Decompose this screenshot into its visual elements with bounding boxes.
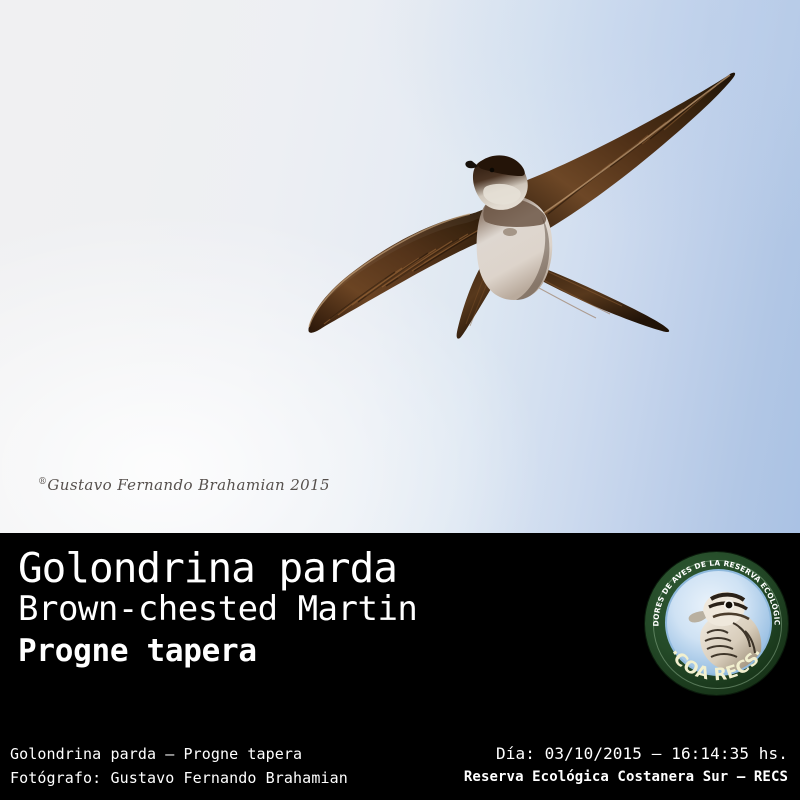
common-name-spanish: Golondrina parda <box>18 545 397 591</box>
footer-datetime-line: Día: 03/10/2015 – 16:14:35 hs. <box>496 744 788 763</box>
common-name-english: Brown-chested Martin <box>18 589 417 629</box>
watermark-text: Gustavo Fernando Brahamian 2015 <box>47 476 330 494</box>
photo-card: ®Gustavo Fernando Brahamian 2015 Golondr… <box>0 0 800 800</box>
badge-bottom-textpath: ·COA RECS· <box>664 645 768 686</box>
badge-bottom-text-ring: ·COA RECS· <box>645 552 788 695</box>
photograph: ®Gustavo Fernando Brahamian 2015 <box>0 0 800 533</box>
registered-mark-icon: ® <box>38 477 47 487</box>
bird-svg <box>0 0 800 533</box>
footer-species-line: Golondrina parda – Progne tapera <box>10 745 302 763</box>
scientific-name: Progne tapera <box>18 632 257 670</box>
footer-location-line: Reserva Ecológica Costanera Sur – RECS <box>464 769 788 785</box>
beak <box>465 161 478 168</box>
bird-illustration <box>0 0 800 533</box>
badge-bottom-label: ·COA RECS· <box>664 645 768 686</box>
footer-photographer-line: Fotógrafo: Gustavo Fernando Brahamian <box>10 769 348 787</box>
eye <box>490 168 495 173</box>
photo-watermark: ®Gustavo Fernando Brahamian 2015 <box>38 476 330 494</box>
coa-recs-logo: CLUB DE OBSERVADORES DE AVES DE LA RESER… <box>645 552 788 695</box>
belly-spot <box>503 228 517 236</box>
